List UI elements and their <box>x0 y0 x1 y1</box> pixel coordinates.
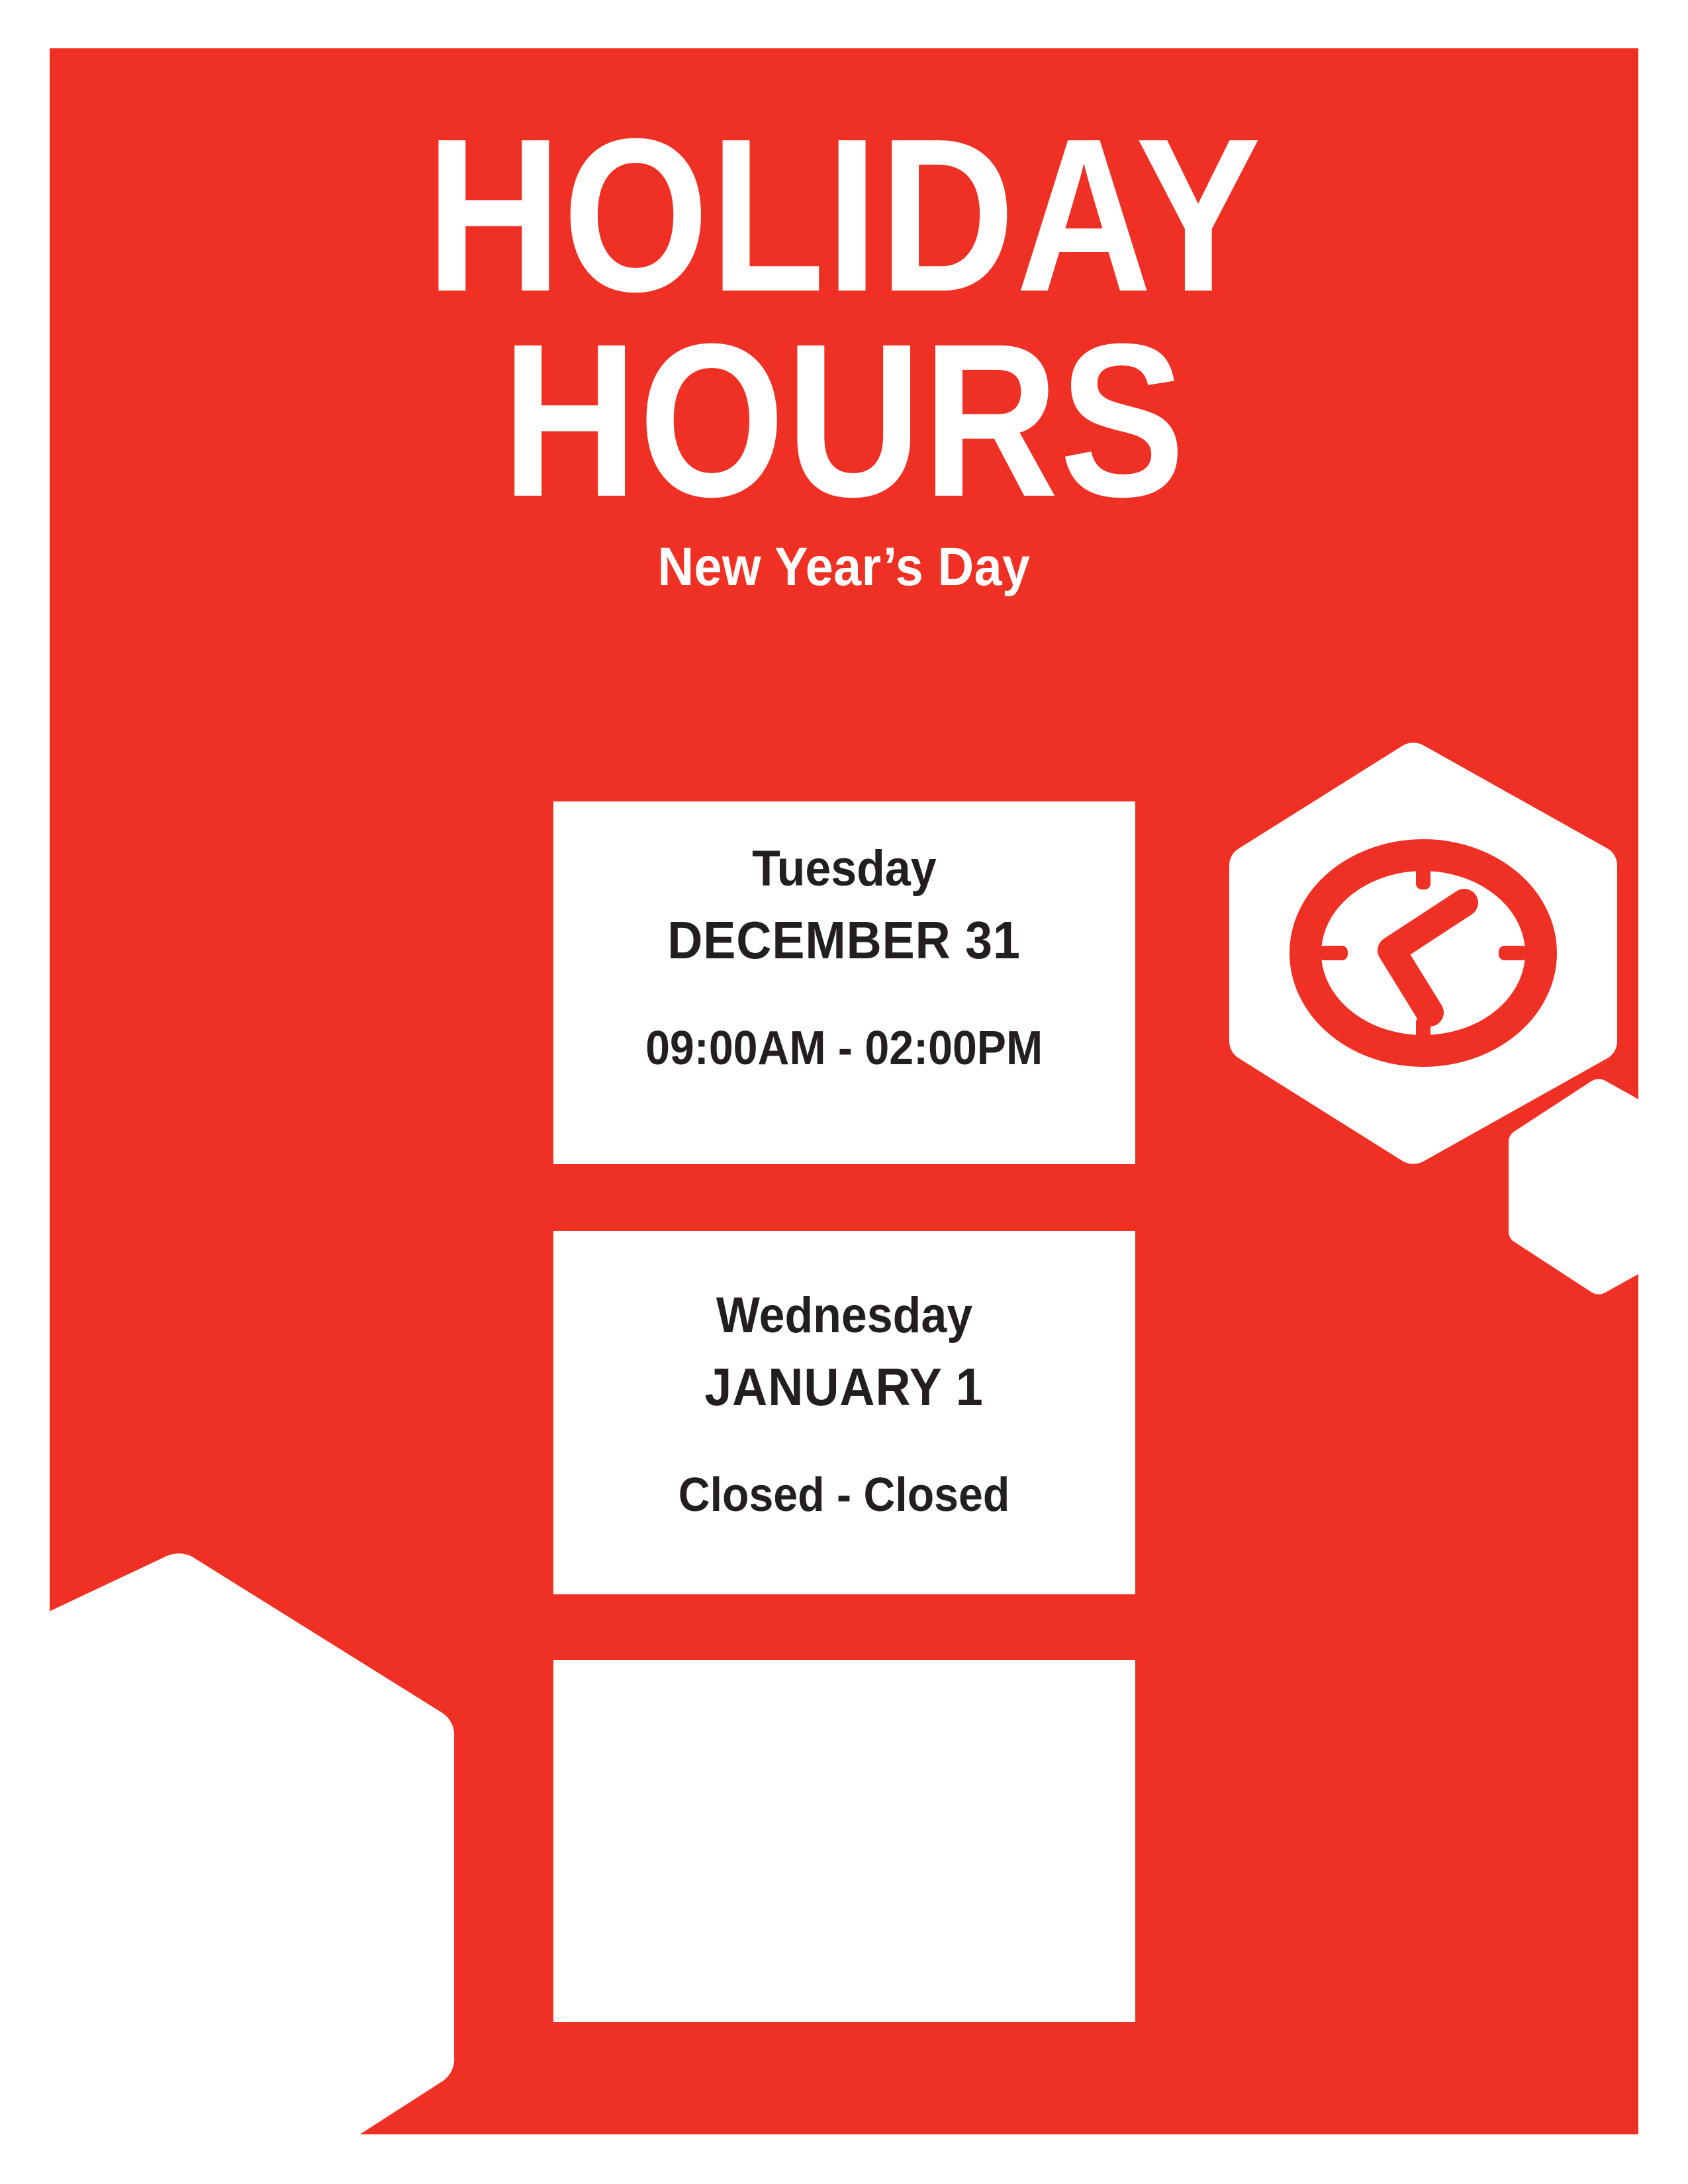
poster-subtitle: New Year’s Day <box>113 537 1575 597</box>
schedule-card-empty-slot <box>553 1660 1135 2022</box>
schedule-hours: Closed - Closed <box>679 1471 1010 1521</box>
schedule-hours: 09:00AM - 02:00PM <box>645 1024 1043 1074</box>
large-hexagon-decoration <box>0 1542 457 2184</box>
schedule-card-3[interactable] <box>553 1660 1135 2022</box>
holiday-hours-poster: HOLIDAY HOURS New Year’s Day <box>0 0 1688 2184</box>
schedule-card-1[interactable]: Tuesday DECEMBER 31 09:00AM - 02:00PM <box>553 801 1135 1164</box>
schedule-weekday: Tuesday <box>752 842 936 895</box>
page-title: HOLIDAY HOURS <box>161 113 1527 523</box>
poster-header: HOLIDAY HOURS New Year’s Day <box>50 113 1638 598</box>
schedule-date: DECEMBER 31 <box>668 913 1021 968</box>
schedule-card-2[interactable]: Wednesday JANUARY 1 Closed - Closed <box>553 1231 1135 1594</box>
schedule-card-list: Tuesday DECEMBER 31 09:00AM - 02:00PM We… <box>553 801 1135 2022</box>
schedule-date: JANUARY 1 <box>705 1359 984 1415</box>
schedule-weekday: Wednesday <box>716 1289 972 1342</box>
small-hexagon-decoration <box>1506 1077 1688 1296</box>
